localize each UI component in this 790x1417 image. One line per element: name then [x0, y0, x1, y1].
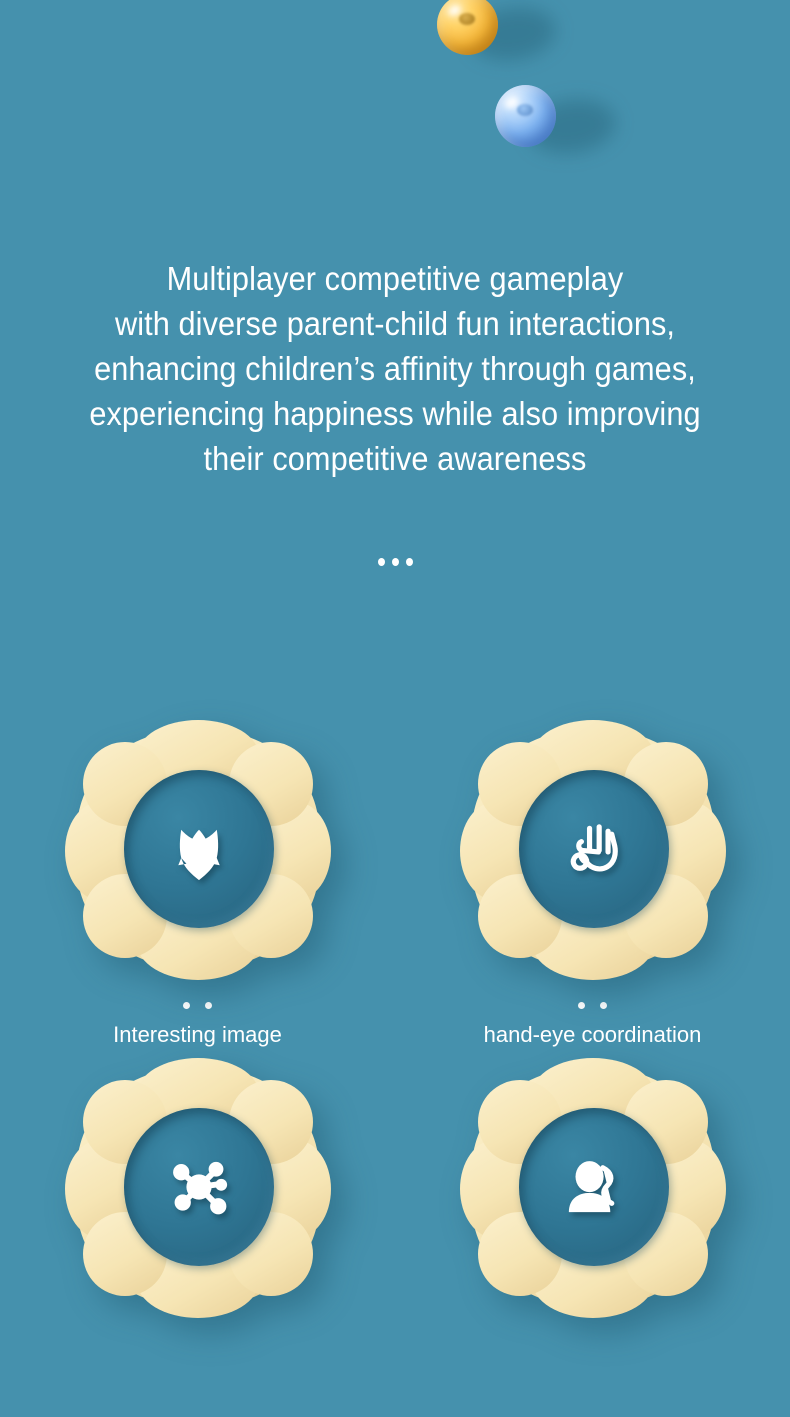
ellipsis-indicator — [0, 558, 790, 566]
badge-inner-circle — [124, 1108, 274, 1266]
molecule-network-icon — [162, 1150, 236, 1224]
caption-dot — [600, 1002, 607, 1009]
caption-dots — [578, 1002, 607, 1009]
blue-ball — [495, 85, 556, 147]
caption-dots — [183, 1002, 212, 1009]
ellipsis-dot — [378, 558, 385, 566]
feature-item-interesting-image[interactable]: Interesting image — [67, 722, 329, 1048]
feature-label: Interesting image — [113, 1022, 282, 1048]
page-headline: Multiplayer competitive gameplay with di… — [28, 256, 763, 481]
feature-row: Interesting image — [0, 722, 790, 1048]
blue-ball-nub — [517, 104, 533, 116]
orange-ball-nub — [459, 13, 475, 25]
feature-item-person[interactable] — [462, 1060, 724, 1322]
badge-inner-circle — [124, 770, 274, 928]
ellipsis-dot — [406, 558, 413, 566]
feature-caption: Interesting image — [113, 1002, 282, 1048]
feature-item-hand-eye-coordination[interactable]: hand-eye coordination — [462, 722, 724, 1048]
feature-row — [0, 1060, 790, 1322]
caption-dot — [205, 1002, 212, 1009]
badge-network[interactable] — [67, 1060, 329, 1322]
feature-label: hand-eye coordination — [484, 1022, 702, 1048]
fox-head-icon — [162, 812, 236, 886]
caption-dot — [183, 1002, 190, 1009]
badge-inner-circle — [519, 770, 669, 928]
caption-dot — [578, 1002, 585, 1009]
hand-icon — [557, 812, 631, 886]
badge-hand-eye-coordination[interactable] — [462, 722, 724, 984]
promo-page: Multiplayer competitive gameplay with di… — [0, 0, 790, 1417]
ellipsis-dot — [392, 558, 399, 566]
badge-inner-circle — [519, 1108, 669, 1266]
badge-person[interactable] — [462, 1060, 724, 1322]
person-icon — [557, 1150, 631, 1224]
feature-item-network[interactable] — [67, 1060, 329, 1322]
feature-grid: Interesting image — [0, 722, 790, 1322]
feature-caption: hand-eye coordination — [484, 1002, 702, 1048]
badge-interesting-image[interactable] — [67, 722, 329, 984]
